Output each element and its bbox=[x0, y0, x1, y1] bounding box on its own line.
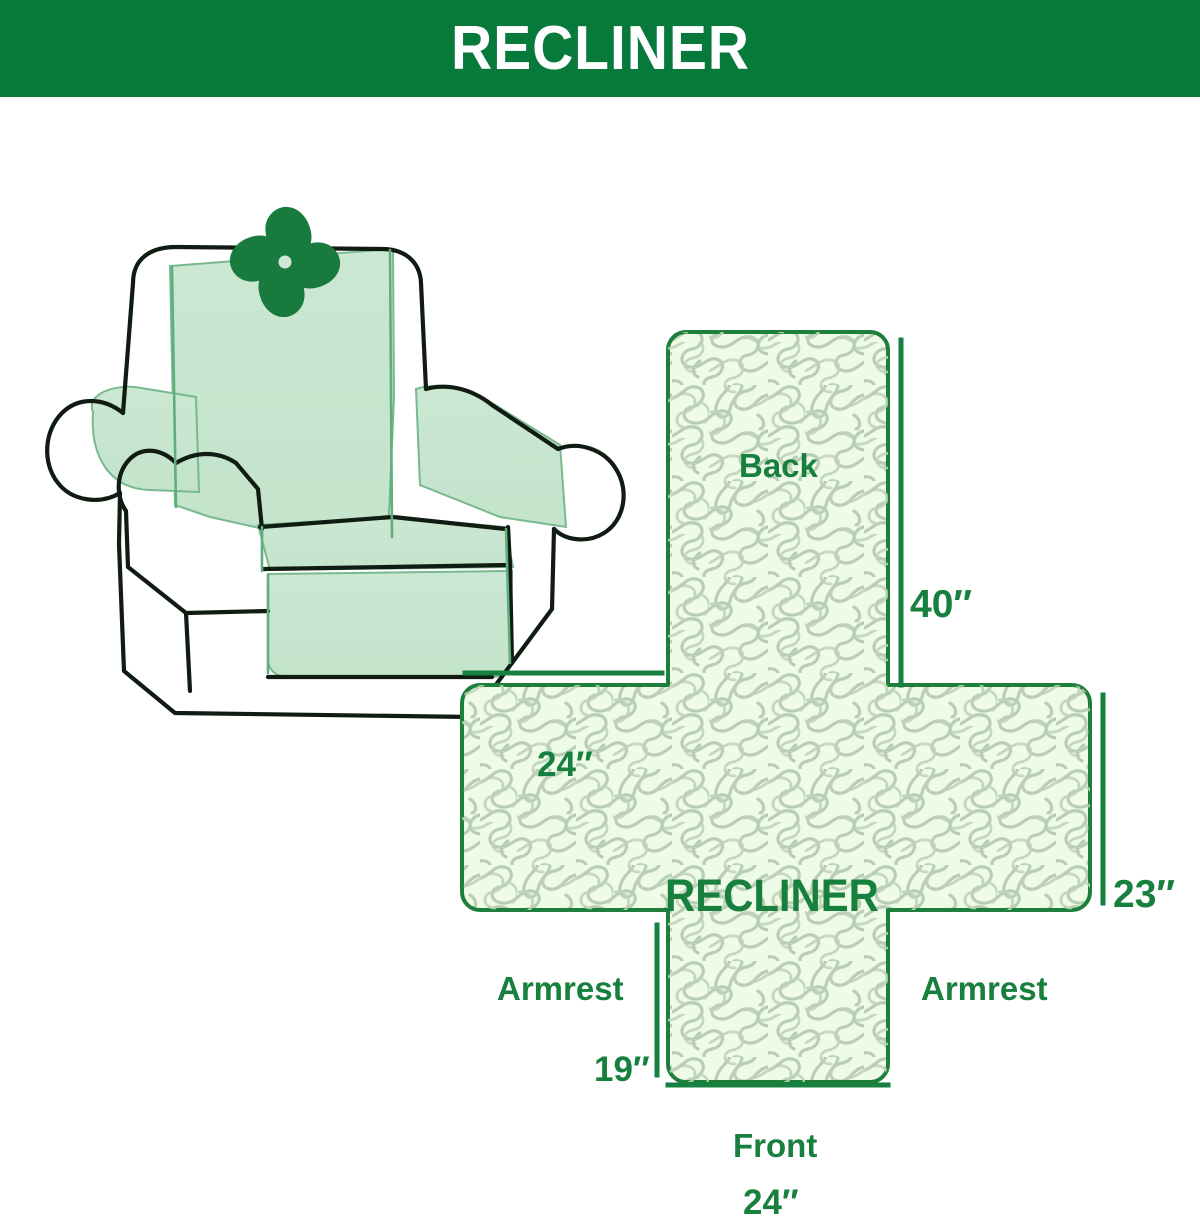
dimension-label-top-width: 24″ bbox=[537, 747, 593, 782]
panel-label-armrest-right: Armrest bbox=[921, 972, 1048, 1005]
dimension-label-armrest-depth: 23″ bbox=[1113, 875, 1175, 914]
page-title: RECLINER bbox=[451, 18, 750, 80]
dimension-label-front-depth: 19″ bbox=[594, 1052, 650, 1087]
dimension-label-front-width: 24″ bbox=[743, 1185, 799, 1220]
panel-label-back: Back bbox=[739, 449, 818, 482]
chair-cover-panels bbox=[92, 249, 566, 677]
panel-label-center: RECLINER bbox=[665, 873, 879, 918]
panel-label-armrest-left: Armrest bbox=[497, 972, 624, 1005]
dimension-label-back-height: 40″ bbox=[910, 585, 972, 624]
header-banner: RECLINER bbox=[0, 0, 1200, 97]
diagram-stage: Back RECLINER Armrest Armrest Front 40″ … bbox=[0, 97, 1200, 1200]
panel-label-front: Front bbox=[733, 1129, 817, 1162]
diagram-artwork bbox=[0, 97, 1200, 1200]
chair-illustration bbox=[47, 207, 623, 717]
